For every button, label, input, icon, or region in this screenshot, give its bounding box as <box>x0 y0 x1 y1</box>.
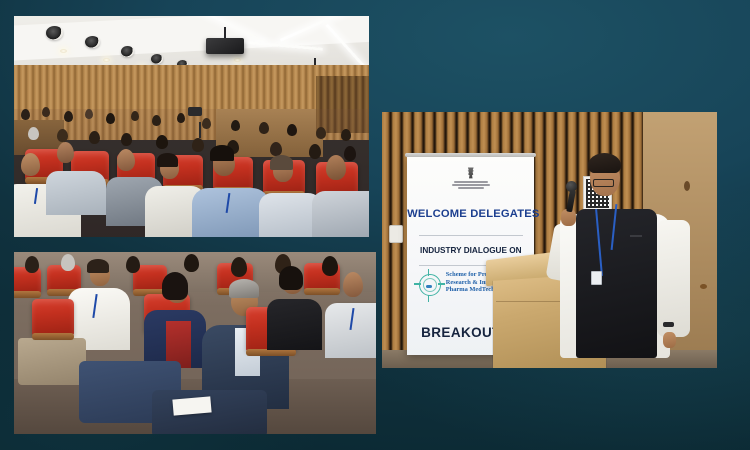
delegate-head <box>326 155 346 180</box>
photo-audience-close[interactable]: Close view of delegates seated in red au… <box>14 252 376 434</box>
delegate-torso <box>192 188 270 237</box>
speaker-jacket-pocket <box>630 235 642 237</box>
delegate-hair <box>210 145 234 161</box>
photo-audience-wide[interactable]: Wide view of a packed auditorium with de… <box>14 16 369 237</box>
light-switch <box>389 225 403 243</box>
delegate-hair <box>157 153 178 167</box>
audience-head <box>270 142 282 156</box>
ashoka-emblem-icon <box>466 167 475 180</box>
audience-head <box>231 120 240 131</box>
delegate-torso <box>267 299 321 350</box>
audience-head <box>344 146 356 161</box>
downlight <box>103 58 110 62</box>
tripod <box>199 122 201 138</box>
government-emblem <box>450 167 492 189</box>
notebook <box>173 396 212 415</box>
banner-heading: WELCOME DELEGATES <box>407 208 534 220</box>
speaker-hair <box>588 153 621 173</box>
emblem-subtext-line <box>458 187 484 189</box>
collage-canvas: Industry Dialogue on PRIP Scheme — event… <box>0 0 750 450</box>
delegate-head <box>25 256 39 273</box>
wall-hook-icon <box>700 284 707 289</box>
auditorium-seat <box>32 299 74 335</box>
delegate-head <box>343 272 363 297</box>
audience-head <box>121 133 132 146</box>
delegate-hair <box>270 155 293 170</box>
logo-spoke-icon <box>428 269 429 276</box>
logo-dot-icon <box>426 285 432 288</box>
delegate-hair <box>162 272 188 300</box>
audience-head <box>309 144 321 159</box>
speaker-jacket <box>576 209 656 357</box>
eyeglasses-icon <box>593 179 614 187</box>
delegate-legs <box>18 338 87 385</box>
audience-head <box>341 129 351 141</box>
banner-rail <box>405 153 536 157</box>
audience-head <box>64 111 73 122</box>
delegate-head <box>117 149 135 171</box>
delegate-hair <box>229 279 259 298</box>
microphone-body <box>566 190 576 213</box>
delegate-head <box>57 142 74 163</box>
delegate-head <box>322 256 338 276</box>
speaker-wristwatch <box>663 322 674 327</box>
delegate-torso <box>312 191 369 237</box>
emblem-subtext-line <box>454 181 488 183</box>
audience-head <box>202 118 211 129</box>
audience-head <box>89 131 100 144</box>
banner-footer: BREAKOUT <box>421 325 501 340</box>
audience-head <box>28 127 39 140</box>
delegate-head <box>21 153 40 176</box>
speaker-hand <box>663 332 676 348</box>
delegate-torso <box>46 171 106 215</box>
downlight <box>234 58 241 62</box>
ceiling-speaker-icon <box>151 54 163 64</box>
delegate-head <box>126 256 140 273</box>
video-camera <box>188 107 202 116</box>
audience-head <box>57 129 68 142</box>
delegate-head <box>184 254 199 272</box>
emblem-subtext-line <box>452 184 490 186</box>
audience-head <box>192 138 204 152</box>
ceiling-speaker-icon <box>85 36 100 48</box>
audience-head <box>156 135 168 149</box>
audience-head <box>259 122 269 134</box>
banner-divider <box>419 235 523 236</box>
speaker-arm-right <box>657 220 691 338</box>
photo-speaker[interactable]: Speaker addressing delegates from a wood… <box>382 112 717 368</box>
audience-head <box>85 109 93 119</box>
speaker-id-badge <box>591 271 602 285</box>
delegate-torso <box>325 303 376 358</box>
delegate-head <box>61 254 75 271</box>
delegate-hair <box>87 259 109 273</box>
audience-head <box>131 111 139 121</box>
microphone <box>563 181 583 213</box>
logo-spoke-icon <box>438 283 445 284</box>
logo-spoke-icon <box>414 283 421 284</box>
ceiling-projector <box>206 38 244 54</box>
audience-head <box>21 109 30 120</box>
ceiling-speaker-icon <box>46 26 63 40</box>
delegate-hair <box>279 266 303 290</box>
ceiling-speaker-icon <box>121 46 134 57</box>
logo-spoke-icon <box>428 295 429 302</box>
banner-subheading: INDUSTRY DIALOGUE ON <box>407 246 534 255</box>
audience-head <box>316 127 326 139</box>
delegate-head <box>231 257 247 277</box>
